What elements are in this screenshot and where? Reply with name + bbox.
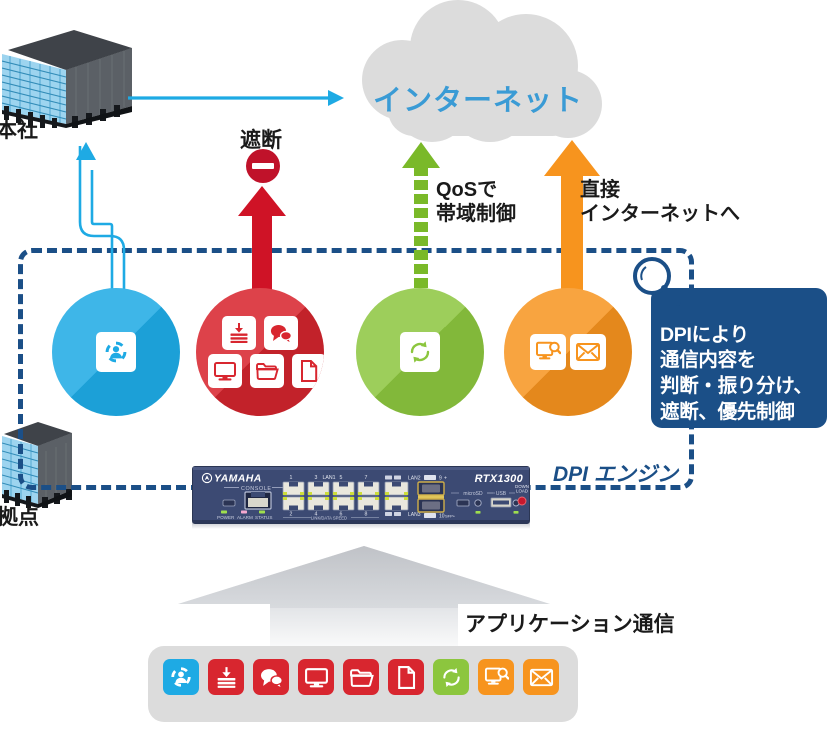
monitor-icon: [213, 359, 237, 383]
headquarters-label: 本社: [0, 118, 38, 144]
power-label: POWER: [217, 515, 235, 520]
download-stack-icon: [227, 321, 251, 345]
link-speed-label: LINK/DATA SPEED: [311, 515, 347, 520]
svg-text:2: 2: [290, 512, 293, 518]
app-icon-download-stack[interactable]: [208, 659, 244, 695]
usb-label: USB: [496, 491, 507, 497]
sfp-plus-label: SFP+: [445, 513, 456, 518]
hq-to-internet-arrow: [128, 86, 348, 110]
block-label: 遮断: [240, 128, 282, 154]
app-icon-folder[interactable]: [343, 659, 379, 695]
folder-icon: [255, 359, 279, 383]
router-to-circles-connectors: [0, 400, 830, 480]
document-icon: [297, 359, 321, 383]
icon-tile-user-group[interactable]: [96, 332, 136, 372]
web-browse-icon: [535, 339, 561, 365]
mail-envelope-icon: [529, 665, 554, 690]
icon-tile-document[interactable]: [292, 354, 324, 388]
direct-internet-label: 直接 インターネットへ: [580, 178, 740, 227]
user-group-icon: [168, 664, 194, 690]
sync-refresh-icon: [439, 665, 464, 690]
magnifier-icon: [630, 254, 684, 310]
icon-tile-mail-envelope[interactable]: [570, 334, 606, 370]
vpn-traffic-circle[interactable]: [52, 288, 180, 416]
qos-label: QoSで 帯域制御: [436, 178, 516, 227]
branch-label: 拠点: [0, 505, 39, 531]
chat-bubble-icon: [269, 321, 293, 345]
lan3-label: LAN3: [408, 512, 421, 518]
headquarters-building: [2, 28, 134, 128]
application-icon-list: [163, 659, 559, 695]
icon-tile-chat-bubble[interactable]: [264, 316, 298, 350]
app-icon-sync-refresh[interactable]: [433, 659, 469, 695]
app-icon-user-group[interactable]: [163, 659, 199, 695]
icon-tile-web-browse[interactable]: [530, 334, 566, 370]
circle-shade-overlay: [504, 288, 632, 416]
app-icon-web-browse[interactable]: [478, 659, 514, 695]
direct-internet-circle[interactable]: [504, 288, 632, 416]
sync-refresh-icon: [406, 338, 434, 366]
download-stack-icon: [214, 665, 239, 690]
svg-text:8: 8: [365, 512, 368, 518]
download-label-line2: LOAD: [516, 489, 528, 494]
application-traffic-arrow: [178, 546, 550, 656]
icon-tile-monitor[interactable]: [208, 354, 242, 388]
app-icon-mail-envelope[interactable]: [523, 659, 559, 695]
app-icon-document[interactable]: [388, 659, 424, 695]
internet-cloud-label: インターネット: [373, 77, 583, 119]
application-traffic-label: アプリケーション通信: [465, 612, 675, 638]
app-icon-monitor[interactable]: [298, 659, 334, 695]
microsd-label: microSD: [463, 491, 483, 497]
network-diagram: インターネット: [0, 0, 830, 733]
icon-tile-folder[interactable]: [250, 354, 284, 388]
document-icon: [394, 665, 419, 690]
user-group-icon: [102, 338, 130, 366]
icon-tile-sync-refresh[interactable]: [400, 332, 440, 372]
app-icon-chat-bubble[interactable]: [253, 659, 289, 695]
circle-shade-overlay: [196, 288, 324, 416]
console-label: CONSOLE: [241, 486, 272, 492]
monitor-icon: [304, 665, 329, 690]
blocked-traffic-circle[interactable]: [196, 288, 324, 416]
chat-bubble-icon: [259, 665, 284, 690]
alarm-label: ALARM: [237, 515, 253, 520]
mail-envelope-icon: [575, 339, 601, 365]
status-label: STATUS: [255, 515, 272, 520]
internet-cloud: [340, 0, 620, 150]
web-browse-icon: [484, 665, 509, 690]
icon-tile-download-stack[interactable]: [222, 316, 256, 350]
sfp-bottom-label: 10: [439, 513, 445, 519]
qos-traffic-circle[interactable]: [356, 288, 484, 416]
folder-icon: [349, 665, 374, 690]
application-icon-bar: [148, 646, 578, 722]
